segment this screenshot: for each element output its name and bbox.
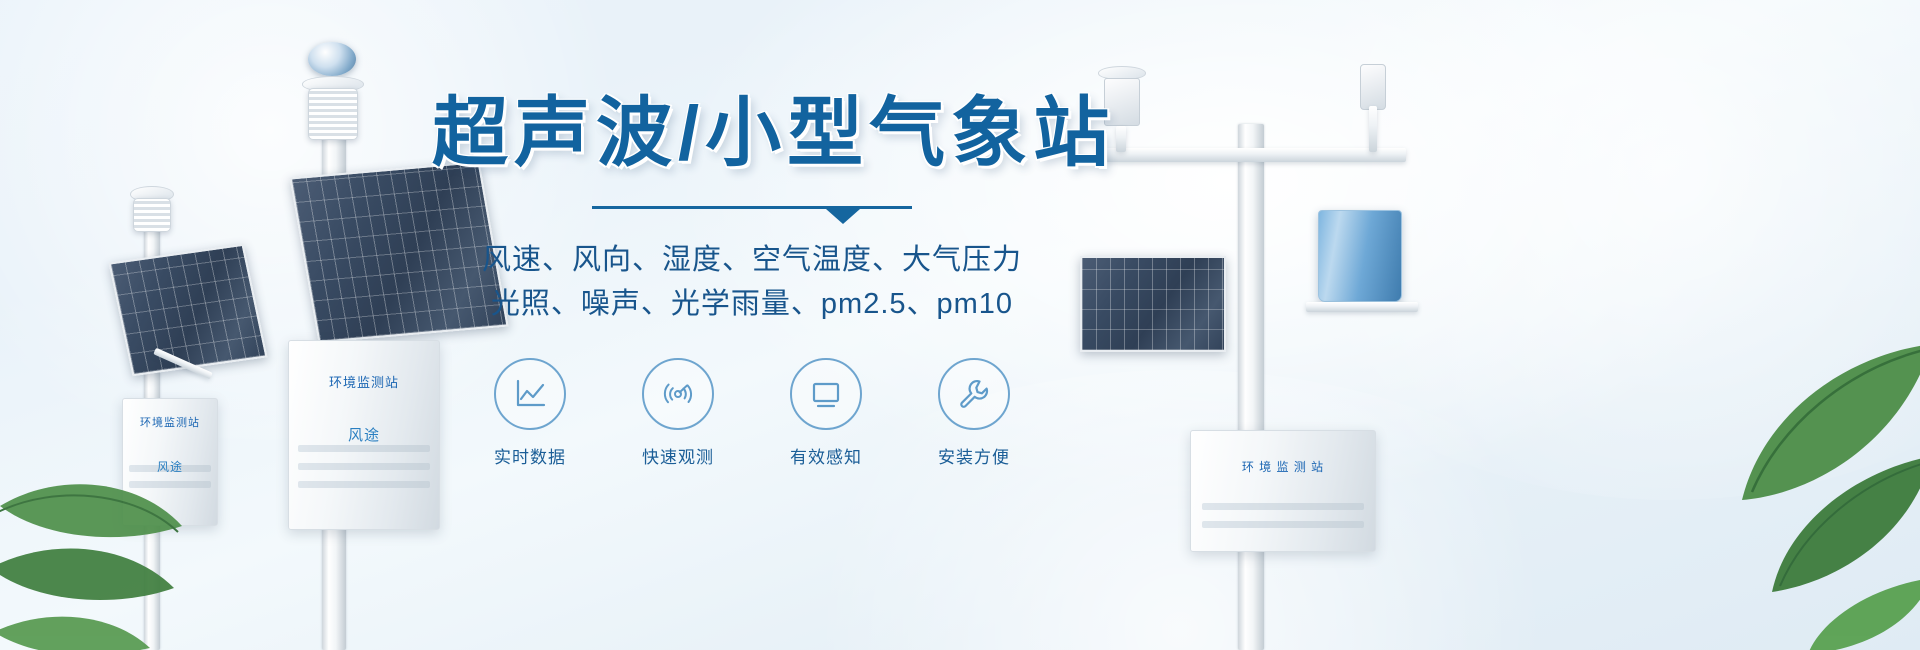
- wind-vane-right: [1360, 64, 1386, 110]
- feature-label: 有效感知: [773, 443, 879, 468]
- device-brand-left: 风途: [122, 458, 218, 475]
- device-label-right: 环 境 监 测 站: [1190, 458, 1376, 475]
- device-brand-center: 风途: [288, 424, 440, 445]
- device-label-left: 环境监测站: [122, 414, 218, 430]
- device-label-center: 环境监测站: [288, 372, 440, 391]
- enclosure-box-right: [1190, 430, 1376, 552]
- feature-item-easy-installation[interactable]: 安装方便: [921, 358, 1027, 468]
- feature-circle: [790, 358, 862, 430]
- feature-label: 安装方便: [921, 443, 1027, 468]
- divider: [592, 206, 912, 224]
- divider-line: [592, 206, 912, 209]
- feature-label: 快速观测: [625, 443, 731, 468]
- subtitle-line-2: 光照、噪声、光学雨量、pm2.5、pm10: [432, 282, 1072, 326]
- sensor-head-left: [133, 198, 171, 232]
- product-banner: 环境监测站 风途 环境监测站 风途 环 境 监 测 站: [0, 0, 1920, 650]
- solar-panel-right: [1080, 256, 1226, 352]
- chevron-down-icon: [826, 209, 860, 224]
- leaf-decoration-right: [1602, 286, 1920, 650]
- banner-content: 超声波/小型气象站 风速、风向、湿度、空气温度、大气压力 光照、噪声、光学雨量、…: [432, 96, 1072, 468]
- feature-circle: [494, 358, 566, 430]
- feature-circle: [938, 358, 1010, 430]
- sensor-head-center: [308, 88, 358, 140]
- feature-label: 实时数据: [477, 443, 583, 468]
- line-chart-icon: [511, 375, 549, 413]
- wrench-tool-icon: [955, 375, 993, 413]
- monitor-screen-icon: [807, 375, 845, 413]
- feature-item-realtime-data[interactable]: 实时数据: [477, 358, 583, 468]
- subtitle-line-1: 风速、风向、湿度、空气温度、大气压力: [432, 238, 1072, 282]
- feature-circle: [642, 358, 714, 430]
- feature-item-fast-observation[interactable]: 快速观测: [625, 358, 731, 468]
- feature-item-effective-sensing[interactable]: 有效感知: [773, 358, 879, 468]
- right-tall-station: 环 境 监 测 站: [1060, 40, 1480, 650]
- page-title: 超声波/小型气象站: [432, 96, 1072, 172]
- radar-signal-icon: [659, 375, 697, 413]
- feature-list: 实时数据 快速观测: [432, 358, 1072, 468]
- crossarm-right: [1106, 148, 1406, 162]
- radiation-dome-center: [308, 42, 356, 76]
- solar-panel-left: [108, 244, 267, 376]
- rain-gauge-right: [1318, 210, 1402, 302]
